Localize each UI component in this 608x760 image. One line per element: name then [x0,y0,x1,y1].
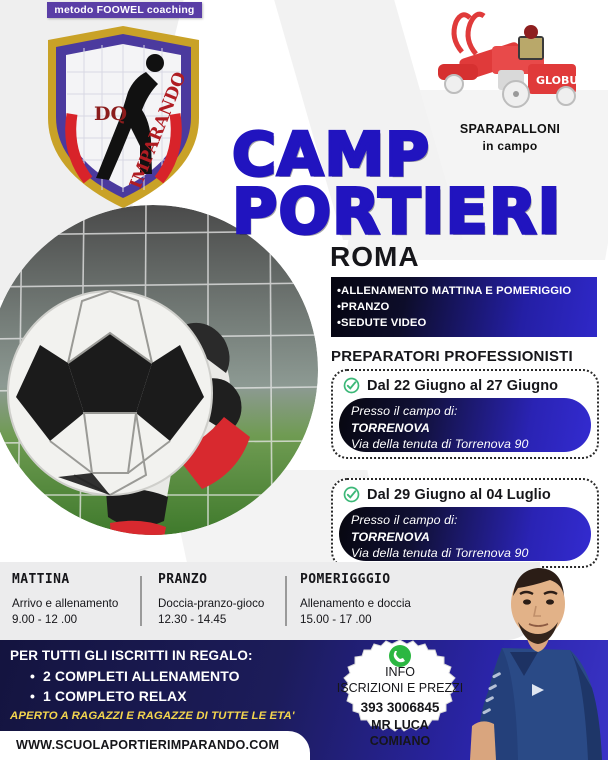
schedule-divider [140,576,142,626]
green-check-icon [343,377,360,394]
schedule-time: 15.00 - 17 .00 [300,612,411,628]
offer-item-label: 2 COMPLETI ALLENAMENTO [43,668,240,684]
contact-phone[interactable]: 393 3006845 [318,698,482,718]
schedule-time: 9.00 - 12 .00 [12,612,118,628]
feature-item: •SEDUTE VIDEO [337,315,597,331]
schedule-activity: Doccia-pranzo-gioco [158,596,264,612]
venue-name: TORRENOVA [351,529,591,546]
machine-brand: GLOBUS [536,74,582,87]
schedule-activity: Arrivo e allenamento [12,596,118,612]
schedule-column-afternoon: POMERIGGGIO Allenamento e doccia 15.00 -… [300,572,411,628]
title-line-2: PORTIERI [232,183,604,240]
poster-canvas: metodo FOOWEL coaching DQ IMPARANDO [0,0,608,760]
method-banner: metodo FOOWEL coaching [47,2,202,18]
schedule-strip: MATTINA Arrivo e allenamento 9.00 - 12 .… [0,562,540,640]
offer-item: • 1 COMPLETO RELAX [30,688,187,704]
session-header: Dal 29 Giugno al 04 Luglio [333,480,597,503]
offer-item-label: 1 COMPLETO RELAX [43,688,187,704]
title-city: ROMA [330,241,420,273]
session-venue: Presso il campo di: TORRENOVA Via della … [339,398,591,452]
schedule-time: 12.30 - 14.45 [158,612,264,628]
imparando-crest-logo: DQ IMPARANDO [36,22,211,212]
offer-item: • 2 COMPLETI ALLENAMENTO [30,668,240,684]
session-card: Dal 29 Giugno al 04 Luglio Presso il cam… [331,478,599,568]
crest-initials: DQ [94,103,127,125]
session-header: Dal 22 Giugno al 27 Giugno [333,371,597,394]
contact-info-label: INFO [318,664,482,680]
venue-name: TORRENOVA [351,420,591,437]
schedule-title: MATTINA [12,572,118,587]
features-list: •ALLENAMENTO MATTINA E POMERIGGIO •PRANZ… [331,277,597,337]
session-venue: Presso il campo di: TORRENOVA Via della … [339,507,591,561]
feature-item: •ALLENAMENTO MATTINA E POMERIGGIO [337,283,597,299]
offer-heading: PER TUTTI GLI ISCRITTI IN REGALO: [10,648,253,663]
schedule-column-lunch: PRANZO Doccia-pranzo-gioco 12.30 - 14.45 [158,572,264,628]
contact-name-first: MR LUCA [318,717,482,733]
coaches-label: PREPARATORI PROFESSIONISTI [331,348,573,365]
session-dates: Dal 22 Giugno al 27 Giugno [367,378,558,394]
green-check-icon [343,486,360,503]
session-dates: Dal 29 Giugno al 04 Luglio [367,487,551,503]
contact-text: INFO ISCRIZIONI E PREZZI 393 3006845 MR … [318,664,482,750]
contact-name-last: COMIANO [318,733,482,749]
schedule-divider [285,576,287,626]
schedule-column-morning: MATTINA Arrivo e allenamento 9.00 - 12 .… [12,572,118,628]
website-url[interactable]: WWW.SCUOLAPORTIERIMPARANDO.COM [16,738,279,752]
venue-address: Via della tenuta di Torrenova 90 [351,436,591,453]
venue-label: Presso il campo di: [351,403,591,420]
ball-launcher-machine-icon: GLOBUS [432,8,582,118]
schedule-activity: Allenamento e doccia [300,596,411,612]
session-card: Dal 22 Giugno al 27 Giugno Presso il cam… [331,369,599,459]
feature-item: •PRANZO [337,299,597,315]
offer-note: APERTO A RAGAZZI E RAGAZZE DI TUTTE LE E… [10,710,295,722]
schedule-title: POMERIGGGIO [300,572,411,587]
page-title: CAMP PORTIERI [232,128,604,240]
venue-label: Presso il campo di: [351,512,591,529]
goalkeeper-photo [0,205,318,535]
coach-photo [466,556,608,760]
website-bar[interactable]: WWW.SCUOLAPORTIERIMPARANDO.COM [0,731,310,760]
schedule-title: PRANZO [158,572,264,587]
contact-subscriptions-label: ISCRIZIONI E PREZZI [318,680,482,696]
